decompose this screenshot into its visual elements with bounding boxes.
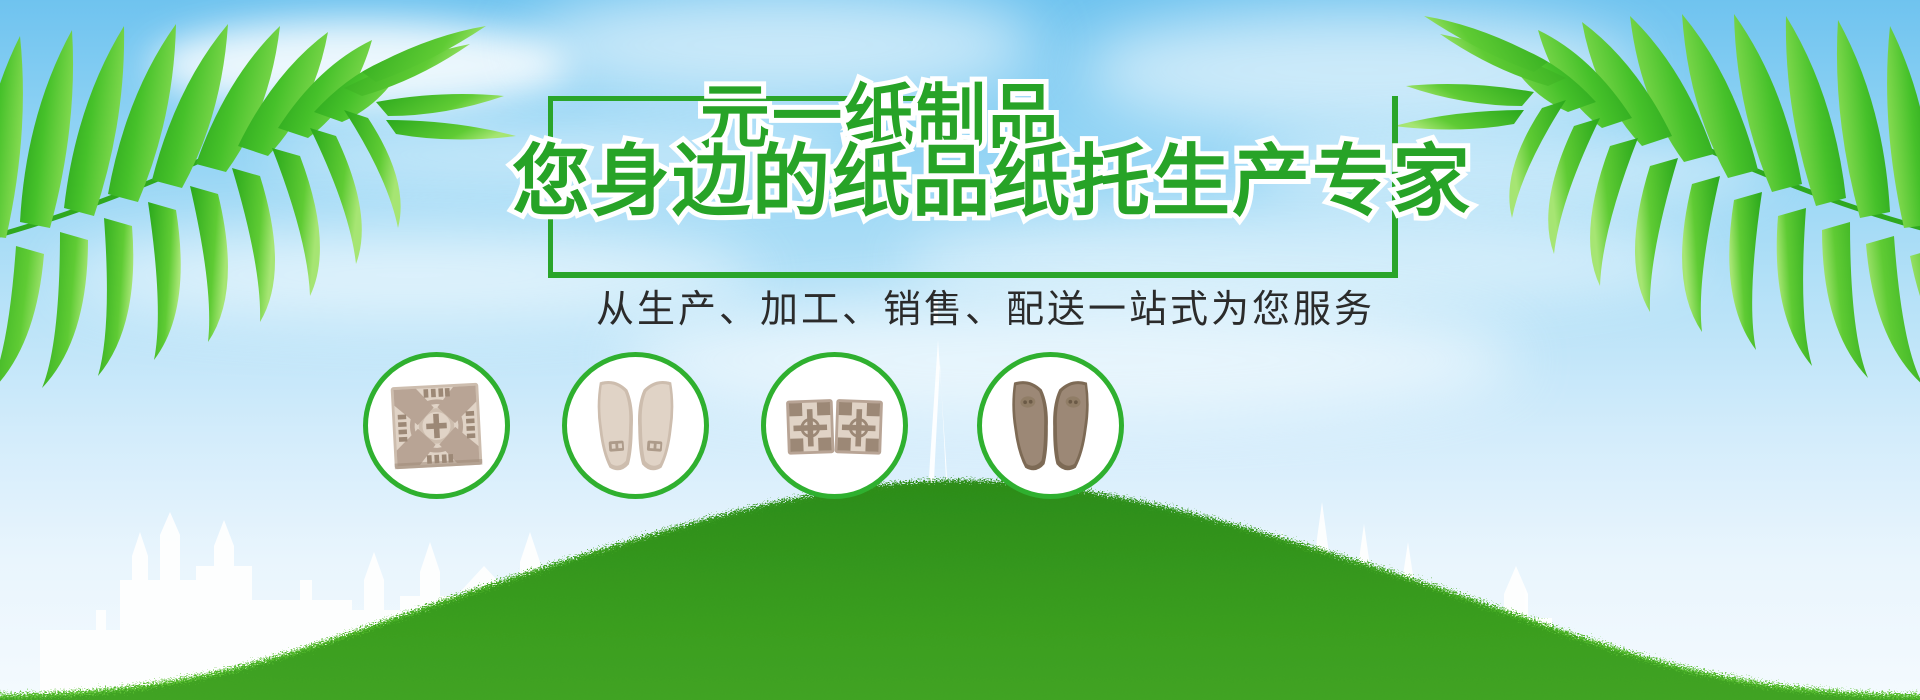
molded-pulp-twin-tray-icon <box>766 357 903 494</box>
product-circle-shoe-support-pair-dark[interactable] <box>977 352 1124 499</box>
paper-pulp-shoe-support-pair-icon <box>982 357 1119 494</box>
paper-pulp-shoe-insert-pair-icon <box>567 357 704 494</box>
product-circle-square-pulp-tray[interactable] <box>363 352 510 499</box>
promo-banner: 元一纸制品 您身边的纸品纸托生产专家 从生产、加工、销售、配送一站式为您服务 <box>0 0 1920 700</box>
product-circle-shoe-insert-pair-light[interactable] <box>562 352 709 499</box>
product-showcase <box>0 0 1920 700</box>
molded-pulp-square-tray-icon <box>368 357 505 494</box>
product-circle-twin-pulp-trays[interactable] <box>761 352 908 499</box>
